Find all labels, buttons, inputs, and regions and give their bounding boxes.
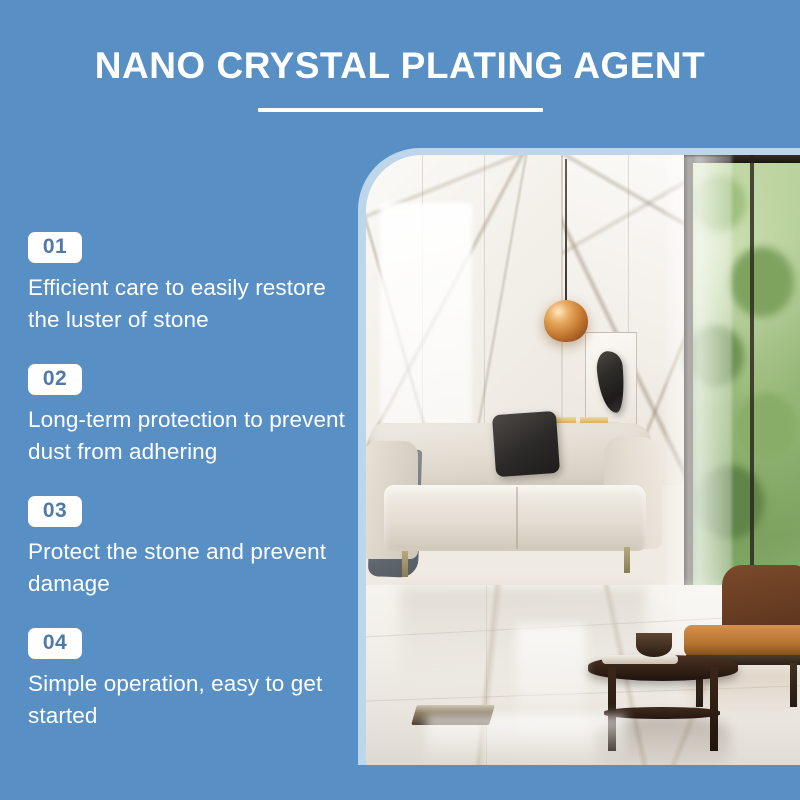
foliage-shape [736, 393, 798, 459]
sheer-curtain [666, 155, 732, 625]
window-mullion [750, 155, 754, 585]
table-decor-bowl [636, 633, 672, 657]
feature-number-badge: 01 [28, 232, 82, 263]
list-item: 03 Protect the stone and prevent damage [28, 496, 353, 600]
interior-scene-photo [366, 155, 800, 765]
sofa-seat-split [516, 487, 518, 549]
poster-header: NANO CRYSTAL PLATING AGENT [0, 44, 800, 112]
wall-light-reflection [380, 203, 472, 453]
feature-description: Simple operation, easy to get started [28, 668, 353, 732]
page-title: NANO CRYSTAL PLATING AGENT [0, 44, 800, 88]
feature-description: Protect the stone and prevent damage [28, 536, 353, 600]
sofa-leg [402, 551, 408, 577]
photo-panel [358, 148, 800, 765]
title-divider [258, 108, 543, 112]
product-poster: NANO CRYSTAL PLATING AGENT 01 Efficient … [0, 0, 800, 800]
foliage-shape [730, 247, 794, 317]
feature-number-badge: 02 [28, 364, 82, 395]
pendant-lamp-globe [544, 300, 588, 342]
feature-number-badge: 03 [28, 496, 82, 527]
table-leg [710, 667, 718, 751]
feature-description: Efficient care to easily restore the lus… [28, 272, 353, 336]
leather-chair-seat [684, 625, 800, 657]
pendant-lamp-cord [565, 159, 567, 304]
sofa-leg [624, 547, 630, 573]
feature-description: Long-term protection to prevent dust fro… [28, 404, 353, 468]
dark-cushion [492, 411, 560, 477]
feature-number-badge: 04 [28, 628, 82, 659]
list-item: 04 Simple operation, easy to get started [28, 628, 353, 732]
chair-leg [790, 663, 797, 707]
sofa-seat [384, 485, 646, 551]
list-item: 01 Efficient care to easily restore the … [28, 232, 353, 336]
feature-list: 01 Efficient care to easily restore the … [28, 232, 353, 732]
list-item: 02 Long-term protection to prevent dust … [28, 364, 353, 468]
floor-gloss-highlight [426, 715, 626, 765]
table-tray [602, 655, 678, 664]
